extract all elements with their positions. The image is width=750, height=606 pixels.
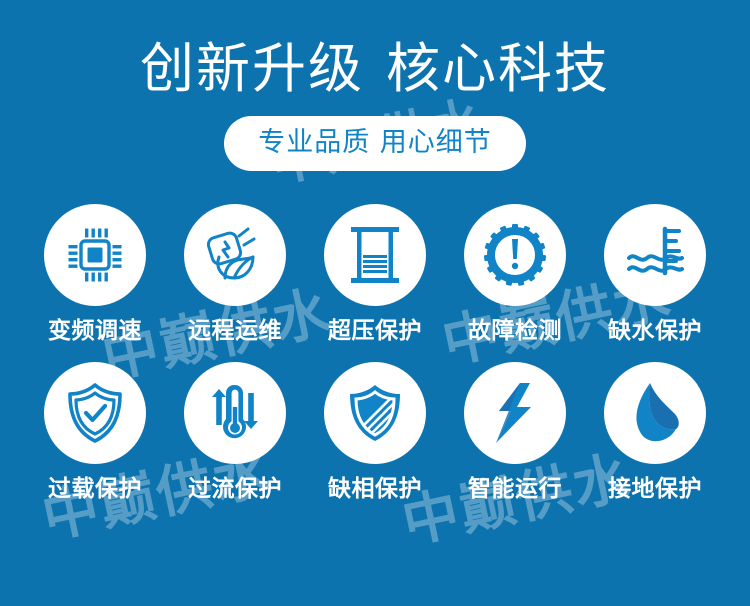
feature-label: 缺相保护 [328,476,422,502]
thermometer-arrows-icon [206,381,264,445]
icon-disc [464,204,566,306]
feature-item-phase-loss[interactable]: 缺相保护 [316,362,434,502]
water-level-gauge-icon [623,225,687,285]
feature-label: 智能运行 [468,476,562,502]
badge-container: 专业品质 用心细节 [0,116,750,171]
press-compression-icon [347,224,403,286]
poster-root: 中巅供水 中巅供水 中巅供水 中巅供水 中巅供水 创新升级核心科技 专业品质 用… [0,0,750,606]
feature-item-remote-ops[interactable]: 远程运维 [176,204,294,344]
feature-item-grounding[interactable]: 接地保护 [596,362,714,502]
page-title: 创新升级核心科技 [0,38,750,100]
cpu-chip-icon [66,226,124,284]
plug-leaf-icon [203,224,267,286]
feature-item-intelligent-operation[interactable]: 智能运行 [456,362,574,502]
feature-label: 过流保护 [188,476,282,502]
leaf-flame-icon [626,381,684,445]
gear-alert-icon [484,224,546,286]
icon-disc [184,362,286,464]
header: 创新升级核心科技 专业品质 用心细节 [0,0,750,171]
feature-item-overload[interactable]: 过载保护 [36,362,154,502]
feature-grid: 变频调速 [0,204,750,502]
feature-item-variable-frequency[interactable]: 变频调速 [36,204,154,344]
tagline-badge: 专业品质 用心细节 [224,116,526,171]
feature-label: 故障检测 [468,318,562,344]
feature-row-1: 变频调速 [0,204,750,344]
feature-label: 缺水保护 [608,318,702,344]
feature-label: 接地保护 [608,476,702,502]
page-title-right: 核心科技 [386,37,610,100]
icon-disc [184,204,286,306]
feature-row-2: 过载保护 [0,362,750,502]
page-title-left: 创新升级 [140,37,364,100]
icon-disc [464,362,566,464]
shield-check-icon [65,382,125,444]
feature-item-overpressure[interactable]: 超压保护 [316,204,434,344]
icon-disc [44,204,146,306]
icon-disc [324,362,426,464]
icon-disc [44,362,146,464]
feature-item-overcurrent[interactable]: 过流保护 [176,362,294,502]
shield-stripes-icon [345,382,405,444]
icon-disc [604,204,706,306]
feature-item-fault-detection[interactable]: 故障检测 [456,204,574,344]
feature-item-water-shortage[interactable]: 缺水保护 [596,204,714,344]
feature-label: 超压保护 [328,318,422,344]
feature-label: 远程运维 [188,318,282,344]
feature-label: 过载保护 [48,476,142,502]
icon-disc [324,204,426,306]
feature-label: 变频调速 [48,318,142,344]
lightning-bolt-icon [491,381,539,445]
icon-disc [604,362,706,464]
